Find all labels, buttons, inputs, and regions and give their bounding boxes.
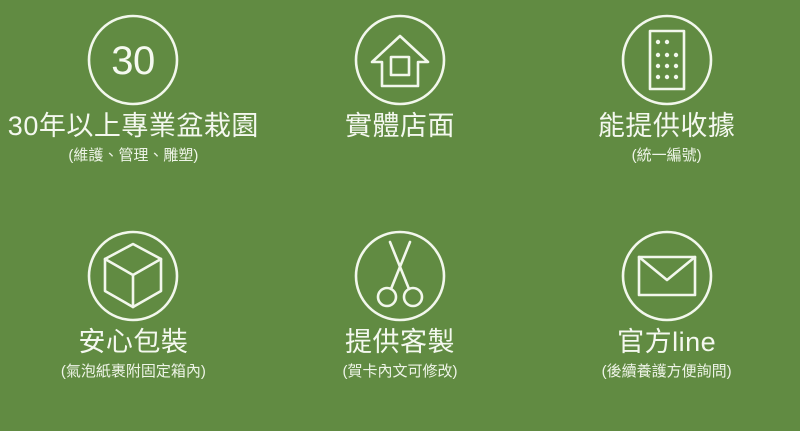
feature-subtitle: (後續養護方便詢問) — [602, 363, 732, 381]
thirty-years-badge-number: 30 — [112, 39, 156, 83]
feature-card-physical-store: 實體店面 — [267, 0, 534, 216]
feature-title: 安心包裝 — [78, 328, 188, 357]
receipt-icon — [619, 12, 715, 108]
feature-grid: 30 30年以上專業盆栽園 (維護、管理、雕塑) 實體店面 — [0, 0, 800, 431]
feature-title: 實體店面 — [345, 112, 455, 141]
feature-subtitle: (賀卡內文可修改) — [342, 363, 457, 381]
envelope-icon — [619, 228, 715, 324]
feature-card-customization: 提供客製 (賀卡內文可修改) — [267, 216, 534, 431]
feature-highlights-banner: 30 30年以上專業盆栽園 (維護、管理、雕塑) 實體店面 — [0, 0, 800, 431]
feature-subtitle: (維護、管理、雕塑) — [68, 147, 198, 165]
feature-subtitle: (統一編號) — [632, 147, 702, 165]
feature-subtitle: (氣泡紙裹附固定箱內) — [61, 363, 206, 381]
feature-title: 30年以上專業盆栽園 — [8, 112, 259, 141]
feature-title: 能提供收據 — [598, 112, 736, 141]
feature-card-official-line: 官方line (後續養護方便詢問) — [533, 216, 800, 431]
thirty-years-badge-icon: 30 — [85, 12, 181, 108]
scissors-icon — [352, 228, 448, 324]
house-icon — [352, 12, 448, 108]
feature-card-thirty-years: 30 30年以上專業盆栽園 (維護、管理、雕塑) — [0, 0, 267, 216]
feature-title: 官方line — [617, 328, 716, 357]
feature-card-packaging: 安心包裝 (氣泡紙裹附固定箱內) — [0, 216, 267, 431]
package-box-icon — [85, 228, 181, 324]
feature-title: 提供客製 — [345, 328, 455, 357]
feature-card-receipt: 能提供收據 (統一編號) — [533, 0, 800, 216]
